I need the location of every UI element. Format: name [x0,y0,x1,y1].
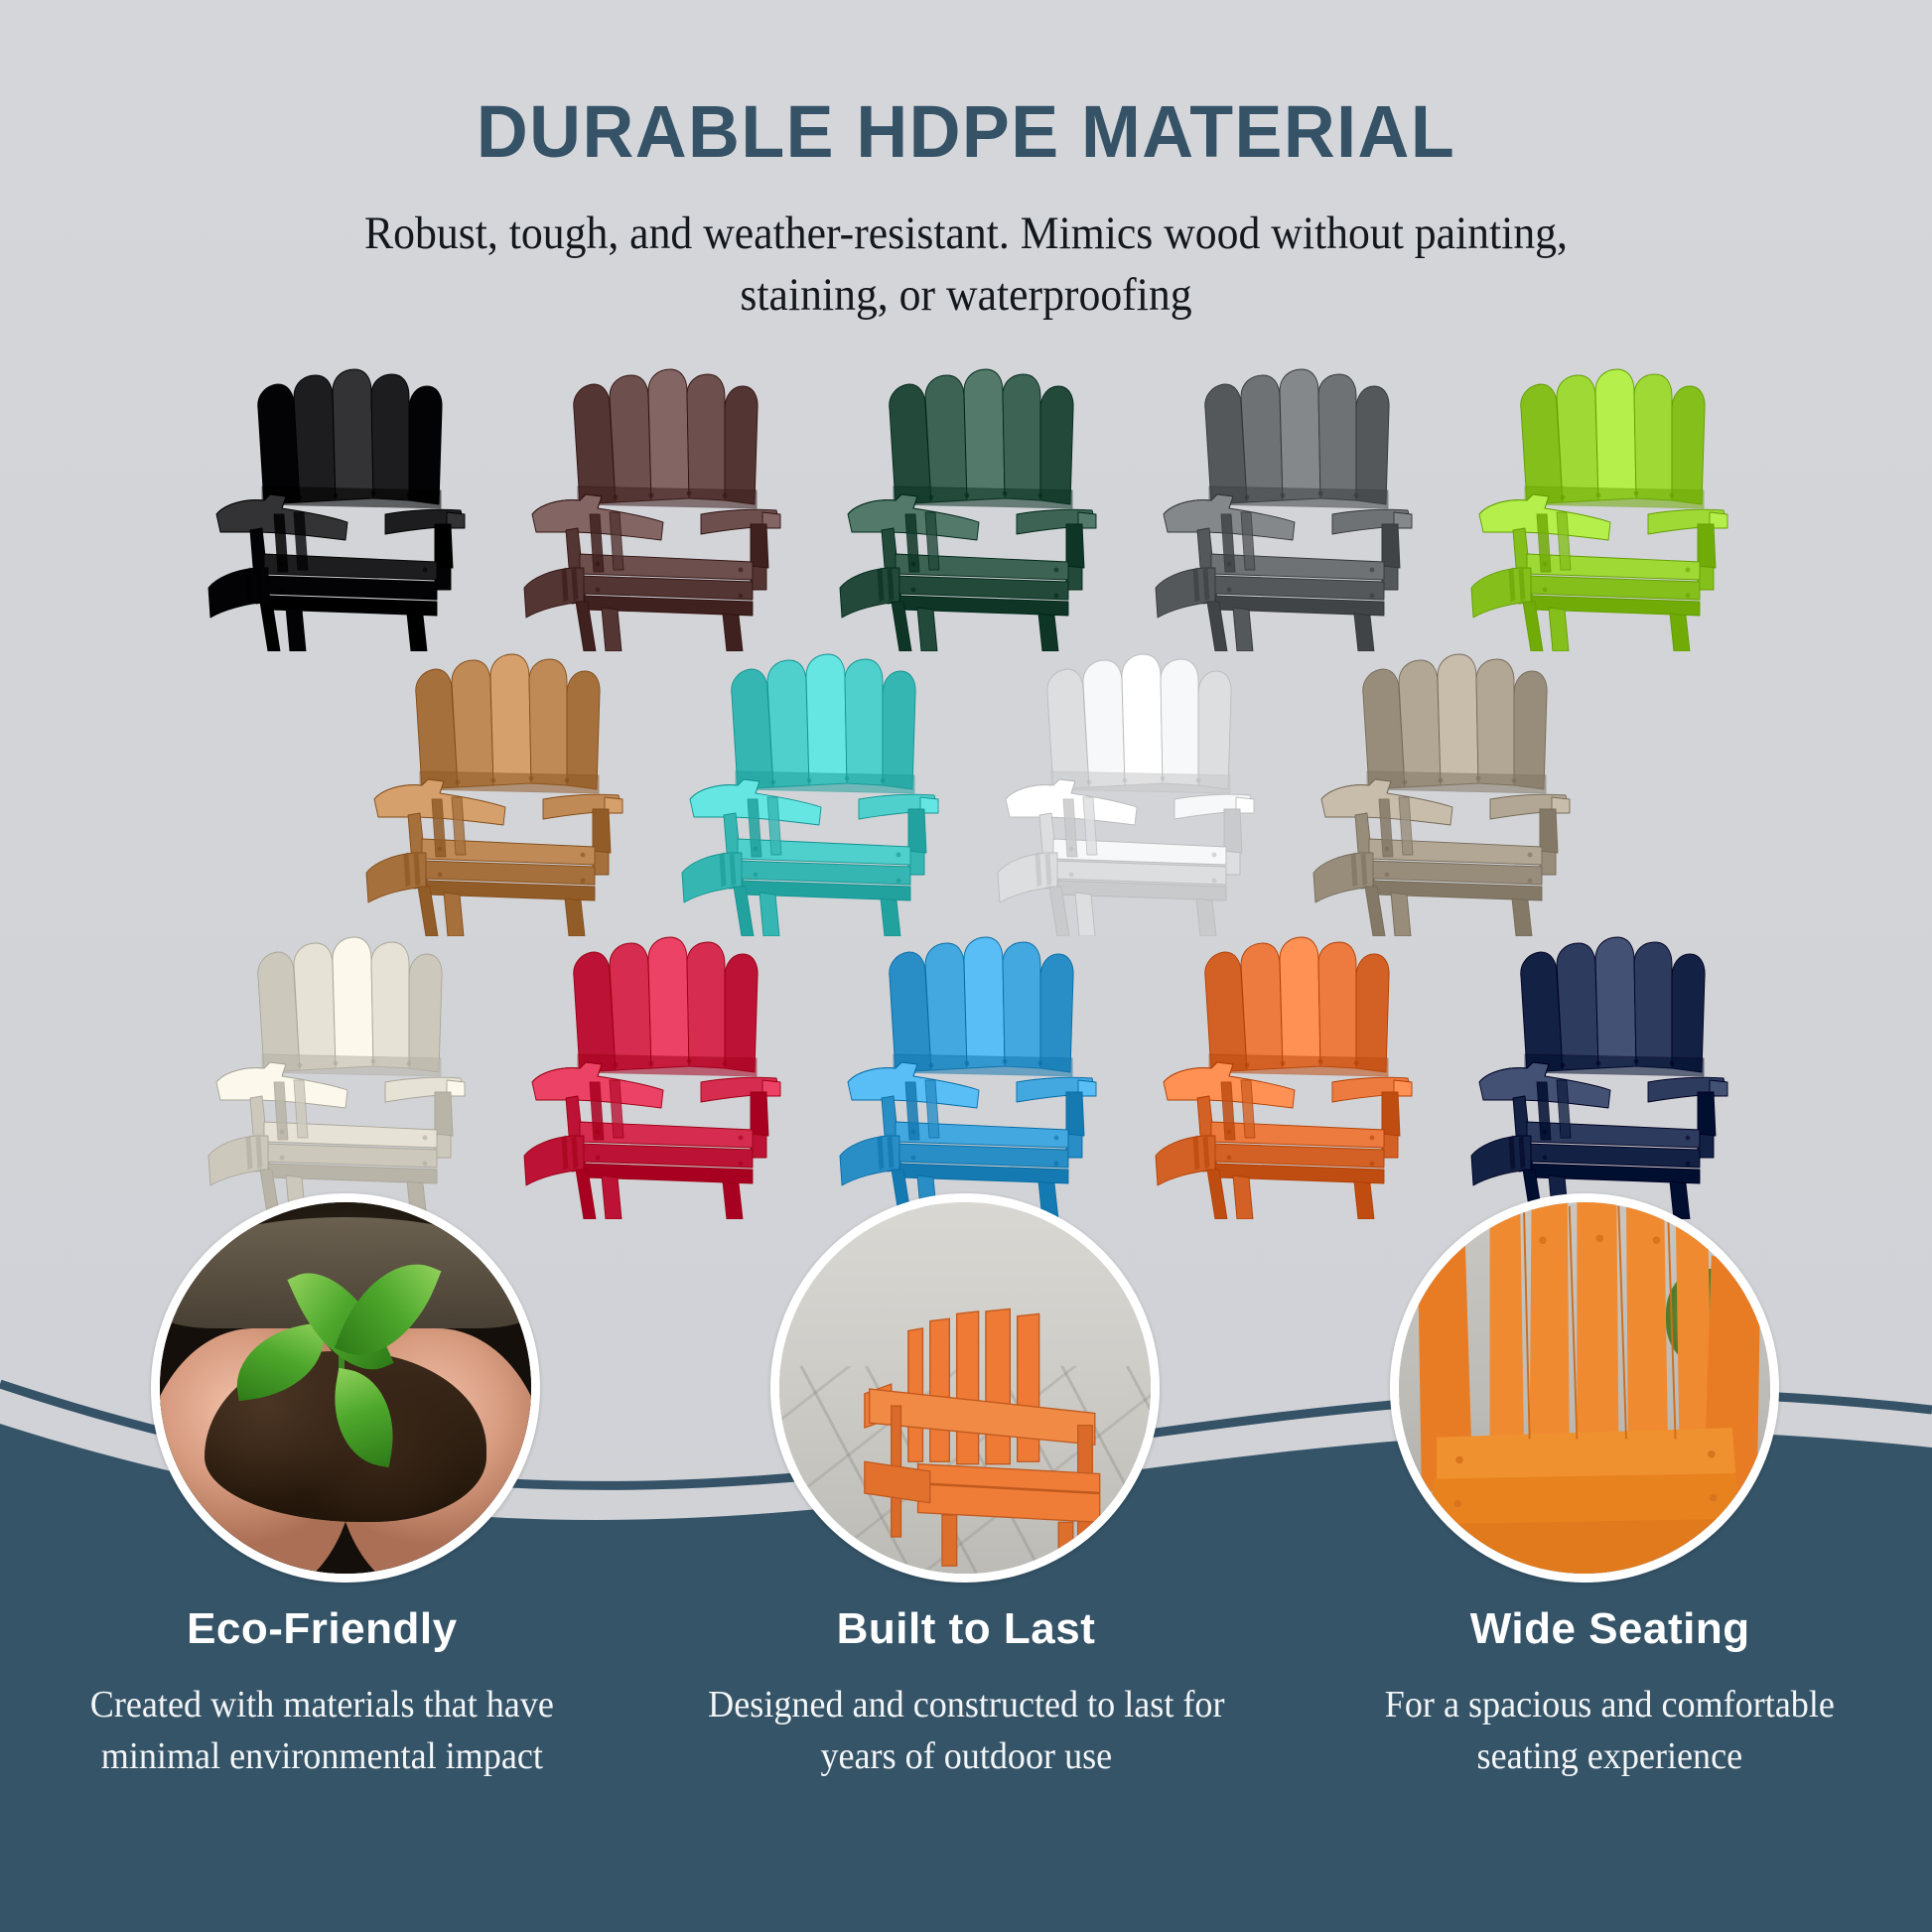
chair-swatch-black[interactable] [177,365,492,653]
feature-wide-seating: Wide Seating For a spacious and comforta… [1288,1604,1932,1932]
orange-chair-photo [794,1224,1151,1574]
chair-swatch-white[interactable] [966,650,1282,938]
page-subtitle: Robust, tough, and weather-resistant. Mi… [329,203,1602,326]
chair-swatch-teak[interactable] [335,650,650,938]
chair-dark-green[interactable] [822,365,1110,651]
chair-row-2 [0,650,1932,938]
chair-red[interactable] [506,933,794,1219]
photo-eco-friendly [151,1193,540,1583]
photo-wide-seating [1390,1193,1779,1583]
page-title: DURABLE HDPE MATERIAL [29,95,1903,169]
chair-swatch-red[interactable] [492,933,808,1221]
feature-caption-row: Eco-Friendly Created with materials that… [0,1604,1932,1932]
chair-blue[interactable] [822,933,1110,1219]
feature-description: Designed and constructed to last for yea… [692,1680,1240,1782]
photo-built-to-last [770,1193,1160,1583]
feature-title: Wide Seating [1321,1604,1898,1654]
chair-swatch-navy-blue[interactable] [1440,933,1755,1221]
feature-eco-friendly: Eco-Friendly Created with materials that… [0,1604,644,1932]
chair-swatch-blue[interactable] [808,933,1124,1221]
chair-dark-brown[interactable] [506,365,794,651]
feature-description: Created with materials that have minimal… [49,1680,597,1782]
wide-seat-closeup [1399,1202,1770,1574]
chair-swatch-lime-green[interactable] [1440,365,1755,653]
chair-white[interactable] [980,650,1268,936]
feature-title: Built to Last [678,1604,1255,1654]
chair-navy-blue[interactable] [1453,933,1741,1219]
feature-description: For a spacious and comfortable seating e… [1336,1680,1884,1782]
chair-black[interactable] [191,365,479,651]
chair-swatch-ivory[interactable] [177,933,492,1221]
chair-swatch-dark-brown[interactable] [492,365,808,653]
chair-swatch-dark-green[interactable] [808,365,1124,653]
chair-swatch-orange[interactable] [1124,933,1440,1221]
chair-lime-green[interactable] [1453,365,1741,651]
chair-turquoise[interactable] [664,650,952,936]
chair-swatch-taupe[interactable] [1282,650,1597,938]
infographic-canvas: DURABLE HDPE MATERIAL Robust, tough, and… [0,0,1932,1932]
chair-gray[interactable] [1138,365,1426,651]
feature-built-to-last: Built to Last Designed and constructed t… [644,1604,1289,1932]
chair-row-3 [0,933,1932,1221]
feature-title: Eco-Friendly [34,1604,611,1654]
chair-taupe[interactable] [1296,650,1584,936]
chair-row-1 [0,365,1932,653]
headline-block: DURABLE HDPE MATERIAL Robust, tough, and… [0,95,1932,326]
chair-orange[interactable] [1138,933,1426,1219]
chair-teak[interactable] [348,650,636,936]
chair-swatch-gray[interactable] [1124,365,1440,653]
chair-ivory[interactable] [191,933,479,1219]
chair-swatch-turquoise[interactable] [650,650,966,938]
